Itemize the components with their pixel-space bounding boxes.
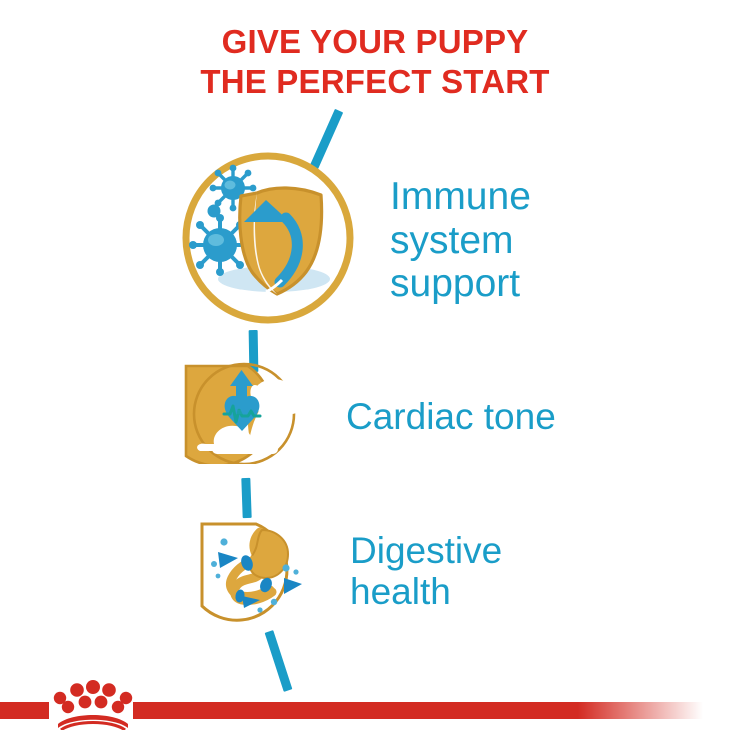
benefit-label-cardiac: Cardiac tone	[346, 396, 556, 437]
cardiac-dog-heart-icon	[178, 352, 308, 482]
benefit-label-digestive: Digestive health	[350, 530, 502, 613]
headline-line-1: GIVE YOUR PUPPY	[0, 22, 750, 62]
digestive-stomach-icon	[188, 506, 318, 636]
royal-canin-crown-icon	[52, 678, 134, 735]
benefit-item-cardiac: Cardiac tone	[178, 352, 556, 482]
benefit-item-immune: Immune system support	[178, 148, 531, 333]
page-title: GIVE YOUR PUPPY THE PERFECT START	[0, 22, 750, 101]
benefit-label-immune: Immune system support	[390, 175, 531, 306]
infographic-page: GIVE YOUR PUPPY THE PERFECT START	[0, 0, 750, 750]
headline-line-2: THE PERFECT START	[0, 62, 750, 102]
immune-shield-icon	[178, 148, 358, 333]
brand-bar-left	[0, 702, 49, 719]
brand-bar-right	[133, 702, 703, 719]
benefit-item-digestive: Digestive health	[188, 506, 502, 636]
connector-dash-bottom	[265, 630, 293, 692]
